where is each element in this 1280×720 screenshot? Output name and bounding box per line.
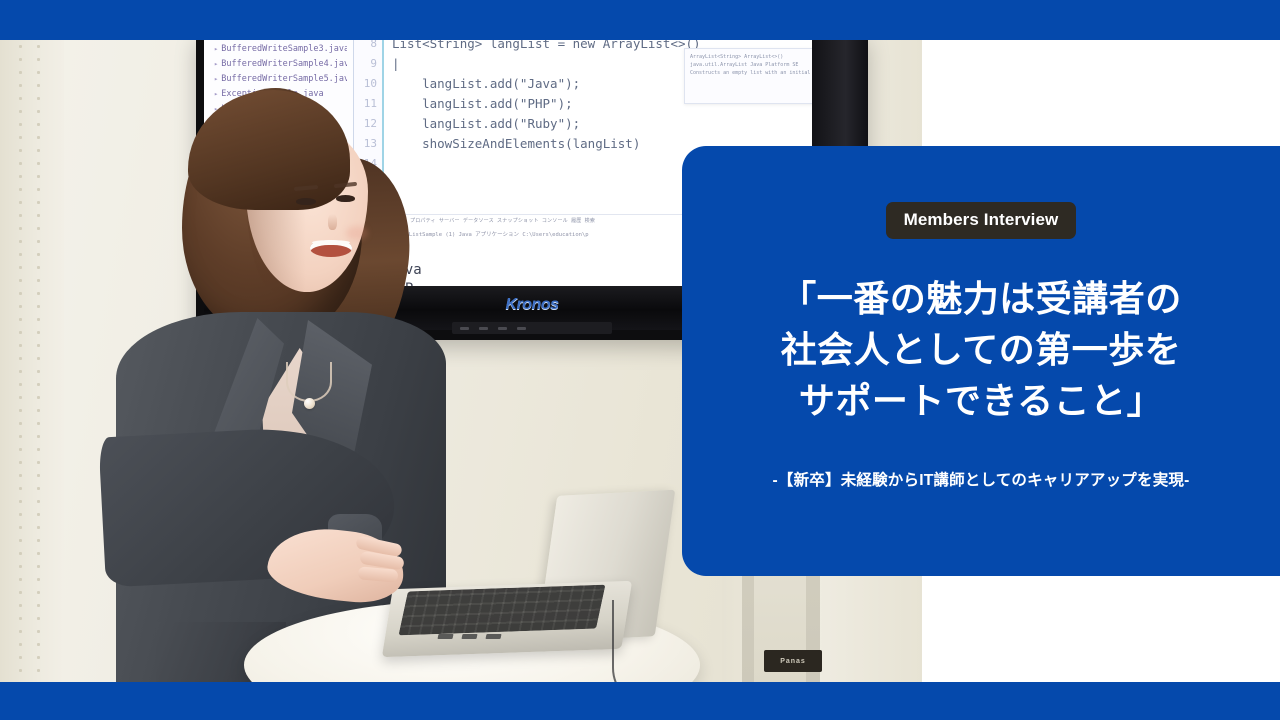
teeth — [312, 240, 350, 245]
laptop-cable — [612, 600, 682, 682]
headline-line: サポートできること」 — [780, 375, 1182, 426]
laptop-port — [437, 634, 453, 639]
monitor-button — [479, 327, 488, 330]
headline-line: 「一番の魅力は受講者の — [780, 273, 1182, 324]
hint-line: Constructs an empty list with an initial — [690, 69, 812, 77]
monitor-button — [517, 327, 526, 330]
necklace-pendant — [304, 398, 315, 409]
page-subtitle: -【新卒】未経験からIT講師としてのキャリアアップを実現- — [773, 468, 1190, 490]
top-brand-bar — [0, 0, 1280, 40]
monitor-button — [460, 327, 469, 330]
laptop-ports — [437, 634, 501, 639]
status-badge: Members Interview — [886, 202, 1077, 239]
wall-left-panel — [0, 40, 64, 682]
monitor-button-bar — [452, 322, 612, 334]
page-title: 「一番の魅力は受講者の 社会人としての第一歩を サポートできること」 — [780, 273, 1182, 426]
eye-left — [296, 198, 316, 205]
file-tree-item: BufferedWriteSample3.java — [214, 42, 347, 57]
wall-perforation-strip — [18, 40, 23, 682]
monitor-button — [498, 327, 507, 330]
laptop-port — [461, 634, 477, 639]
headline-line: 社会人としての第一歩を — [780, 324, 1182, 375]
ide-autocomplete-popup: ArrayList<String> ArrayList<>() java.uti… — [684, 48, 812, 104]
hair-fringe — [188, 90, 350, 210]
laptop-keyboard — [398, 585, 605, 636]
printer-brand-text: Panas — [780, 658, 806, 665]
laptop-port — [485, 634, 501, 639]
interview-headline-card: Members Interview 「一番の魅力は受講者の 社会人としての第一歩… — [682, 146, 1280, 576]
cheek-blush — [346, 226, 368, 240]
hint-line: ArrayList<String> ArrayList<>() — [690, 53, 812, 61]
card-content: Members Interview 「一番の魅力は受講者の 社会人としての第一歩… — [682, 146, 1280, 576]
monitor-brand-logo: Kronos — [506, 296, 559, 314]
eye-right — [336, 195, 355, 202]
wall-perforation-strip — [36, 40, 41, 682]
nose — [328, 214, 337, 230]
line-number: 8 — [354, 40, 382, 54]
slide-canvas: Panas BufferedWriteSample3.java Buffered… — [0, 0, 1280, 720]
hint-line: java.util.ArrayList Java Platform SE — [690, 61, 812, 69]
printer-brand-label: Panas — [764, 650, 822, 672]
bottom-brand-bar — [0, 682, 1280, 720]
necklace — [286, 362, 332, 402]
